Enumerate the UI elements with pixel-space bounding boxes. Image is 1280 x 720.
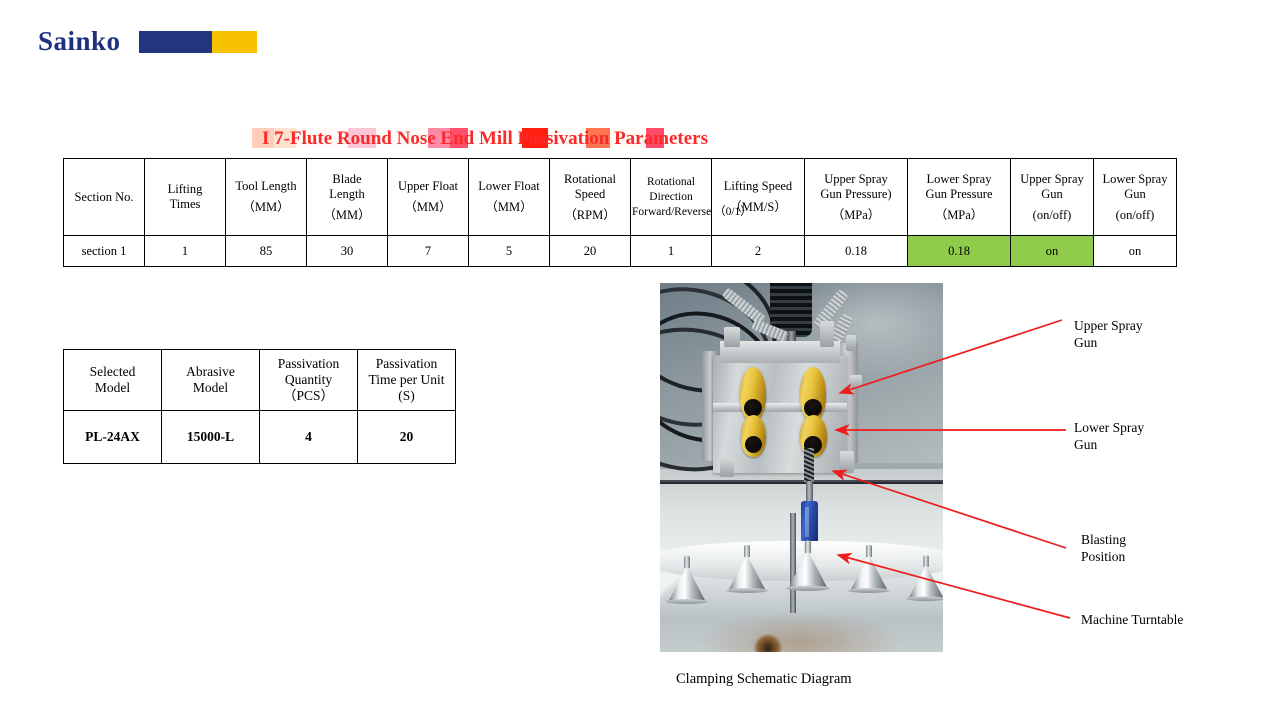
manifold-mid-rail bbox=[713, 403, 847, 412]
end-mill-reflection bbox=[790, 513, 796, 613]
blue-collet bbox=[801, 501, 818, 543]
column-header-unit: （PCS） bbox=[283, 388, 334, 403]
cone-base bbox=[906, 596, 943, 601]
table-cell: 1 bbox=[631, 236, 712, 267]
table-header-row: SelectedModelAbrasiveModelPassivationQua… bbox=[64, 350, 456, 411]
column-header-title: RotationalDirectionForward/Reverse （0/1） bbox=[632, 175, 710, 220]
column-header-title: BladeLength bbox=[308, 172, 386, 202]
column-header-unit: (on/off) bbox=[1095, 208, 1175, 223]
table-cell: PL-24AX bbox=[64, 411, 162, 464]
column-header-unit: （MPa） bbox=[909, 208, 1009, 223]
column-header: AbrasiveModel bbox=[162, 350, 260, 411]
table-cell: on bbox=[1094, 236, 1177, 267]
table-cell: 15000-L bbox=[162, 411, 260, 464]
turntable-reflection bbox=[700, 613, 900, 652]
column-header-title: Tool Length bbox=[227, 179, 305, 194]
column-header: RotationalSpeed（RPM） bbox=[550, 159, 631, 236]
brand-name: Sainko bbox=[38, 26, 121, 57]
column-header-title: LiftingTimes bbox=[146, 182, 224, 212]
table-cell: 5 bbox=[469, 236, 550, 267]
column-header: Lower SprayGun(on/off) bbox=[1094, 159, 1177, 236]
column-header: Lifting Speed（MM/S） bbox=[712, 159, 805, 236]
column-header: Upper SprayGun(on/off) bbox=[1011, 159, 1094, 236]
column-header-title: Upper SprayGun Pressure) bbox=[806, 172, 906, 202]
callout-label-1: Lower Spray Gun bbox=[1074, 419, 1144, 453]
cone-base bbox=[848, 588, 890, 593]
column-header-title: Lifting Speed bbox=[713, 179, 803, 194]
table-body: section 1185307520120.180.18onon bbox=[64, 236, 1177, 267]
table-body: PL-24AX15000-L420 bbox=[64, 411, 456, 464]
column-header-unit: （MPa） bbox=[806, 208, 906, 223]
column-header: Lower Float（MM） bbox=[469, 159, 550, 236]
manifold-fitting bbox=[724, 327, 740, 347]
table-cell: 7 bbox=[388, 236, 469, 267]
status-cell-on: 0.18 bbox=[908, 236, 1011, 267]
manifold-fitting bbox=[820, 321, 834, 347]
page-title: I 7-Flute Round Nose End Mill Passivatio… bbox=[262, 128, 708, 150]
figure-caption: Clamping Schematic Diagram bbox=[676, 671, 852, 688]
column-header-title: Section No. bbox=[65, 190, 143, 205]
table-cell: 85 bbox=[226, 236, 307, 267]
column-header: Lower SprayGun Pressure（MPa） bbox=[908, 159, 1011, 236]
callout-label-0: Upper Spray Gun bbox=[1074, 317, 1143, 351]
brand-logo: Sainko bbox=[38, 26, 257, 57]
collet-highlight bbox=[805, 507, 809, 537]
cone-base bbox=[726, 588, 768, 593]
brand-bar-navy bbox=[139, 31, 212, 53]
column-header-title: PassivationTime per Unit bbox=[359, 356, 454, 388]
brand-bars bbox=[139, 31, 257, 53]
column-header-unit: （MM） bbox=[227, 200, 305, 215]
column-header: PassivationQuantity（PCS） bbox=[260, 350, 358, 411]
column-header-title: Lower SprayGun bbox=[1095, 172, 1175, 202]
column-header-unit: （MM） bbox=[470, 200, 548, 215]
clamping-schematic-photo bbox=[660, 283, 943, 652]
column-header-unit: (S) bbox=[398, 388, 415, 403]
lower-spray-gun-nozzle-bore bbox=[745, 436, 762, 453]
chamber-divider-band bbox=[660, 482, 943, 484]
spray-gun-manifold-block bbox=[713, 355, 847, 473]
column-header: BladeLength（MM） bbox=[307, 159, 388, 236]
column-header-unit: （RPM） bbox=[551, 208, 629, 223]
column-header-title: Lower Float bbox=[470, 179, 548, 194]
brand-bar-gold bbox=[212, 31, 257, 53]
table-cell: 4 bbox=[260, 411, 358, 464]
column-header: RotationalDirectionForward/Reverse （0/1） bbox=[631, 159, 712, 236]
column-header-unit: (on/off) bbox=[1012, 208, 1092, 223]
table-cell: section 1 bbox=[64, 236, 145, 267]
callout-label-2: Blasting Position bbox=[1081, 531, 1126, 565]
manifold-fitting bbox=[840, 451, 854, 473]
column-header-title: RotationalSpeed bbox=[551, 172, 629, 202]
table-cell: 0.18 bbox=[805, 236, 908, 267]
column-header-title: PassivationQuantity bbox=[261, 356, 356, 388]
cone-base bbox=[786, 586, 830, 591]
column-header: LiftingTimes bbox=[145, 159, 226, 236]
column-header: Upper Float（MM） bbox=[388, 159, 469, 236]
table-cell: 30 bbox=[307, 236, 388, 267]
column-header-title: AbrasiveModel bbox=[163, 364, 258, 396]
callout-label-3: Machine Turntable bbox=[1081, 611, 1183, 628]
passivation-parameters-table: Section No.LiftingTimesTool Length（MM）Bl… bbox=[63, 158, 1177, 267]
column-header-title: Lower SprayGun Pressure bbox=[909, 172, 1009, 202]
column-header-unit: （MM） bbox=[389, 200, 467, 215]
end-mill-flutes bbox=[804, 448, 814, 484]
manifold-fitting bbox=[720, 457, 734, 477]
column-header-title: SelectedModel bbox=[65, 364, 160, 396]
model-summary-table: SelectedModelAbrasiveModelPassivationQua… bbox=[63, 349, 456, 464]
cone-base bbox=[666, 599, 708, 604]
column-header: SelectedModel bbox=[64, 350, 162, 411]
table-cell: 1 bbox=[145, 236, 226, 267]
table-row: section 1185307520120.180.18onon bbox=[64, 236, 1177, 267]
table-cell: 20 bbox=[550, 236, 631, 267]
manifold-fitting bbox=[846, 335, 856, 351]
table-header-row: Section No.LiftingTimesTool Length（MM）Bl… bbox=[64, 159, 1177, 236]
table-cell: 2 bbox=[712, 236, 805, 267]
table-cell: 20 bbox=[358, 411, 456, 464]
column-header-unit: （MM） bbox=[308, 208, 386, 223]
column-header-title: Upper Float bbox=[389, 179, 467, 194]
column-header: Upper SprayGun Pressure)（MPa） bbox=[805, 159, 908, 236]
column-header: Tool Length（MM） bbox=[226, 159, 307, 236]
status-cell-on: on bbox=[1011, 236, 1094, 267]
column-header: Section No. bbox=[64, 159, 145, 236]
table-row: PL-24AX15000-L420 bbox=[64, 411, 456, 464]
column-header-title: Upper SprayGun bbox=[1012, 172, 1092, 202]
column-header: PassivationTime per Unit(S) bbox=[358, 350, 456, 411]
manifold-fitting bbox=[850, 375, 862, 389]
